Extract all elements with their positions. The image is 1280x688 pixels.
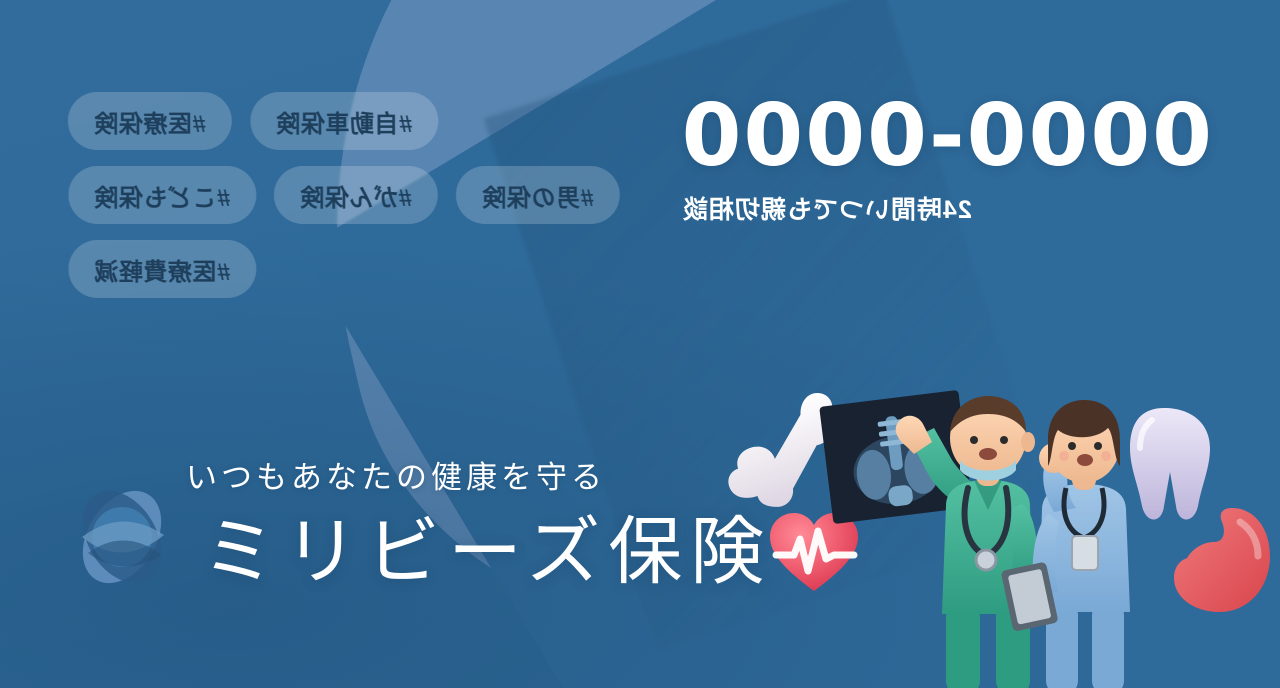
headline-subtitle: いつもあなたの健康を守る xyxy=(186,452,862,497)
phone-caption: 24時間いつでも親切相談 xyxy=(682,190,1214,226)
hashtag-tag[interactable]: #医療費軽減 xyxy=(68,240,256,298)
heart-pulse-icon xyxy=(766,509,862,595)
headline-block: いつもあなたの健康を守る ミリビーズ保険 xyxy=(186,452,862,595)
insurance-banner: #医療保険 #自動車保険 #こども保険 #がん保険 #男の保険 #医療費軽減 0… xyxy=(0,0,1280,688)
hashtag-tag[interactable]: #こども保険 xyxy=(68,166,256,224)
headline-title-row: ミリビーズ保険 xyxy=(202,509,862,595)
phone-contact-block: 0000-0000 24時間いつでも親切相談 xyxy=(682,96,1214,226)
hashtag-tag-group: #医療保険 #自動車保険 #こども保険 #がん保険 #男の保険 #医療費軽減 xyxy=(68,92,628,298)
page-title: ミリビーズ保険 xyxy=(202,512,772,592)
hashtag-tag[interactable]: #がん保険 xyxy=(274,166,438,224)
hashtag-tag[interactable]: #自動車保険 xyxy=(250,92,438,150)
brand-logo-icon xyxy=(68,483,176,591)
phone-number[interactable]: 0000-0000 xyxy=(682,96,1214,178)
hashtag-tag[interactable]: #医療保険 xyxy=(68,92,232,150)
hashtag-tag[interactable]: #男の保険 xyxy=(456,166,620,224)
